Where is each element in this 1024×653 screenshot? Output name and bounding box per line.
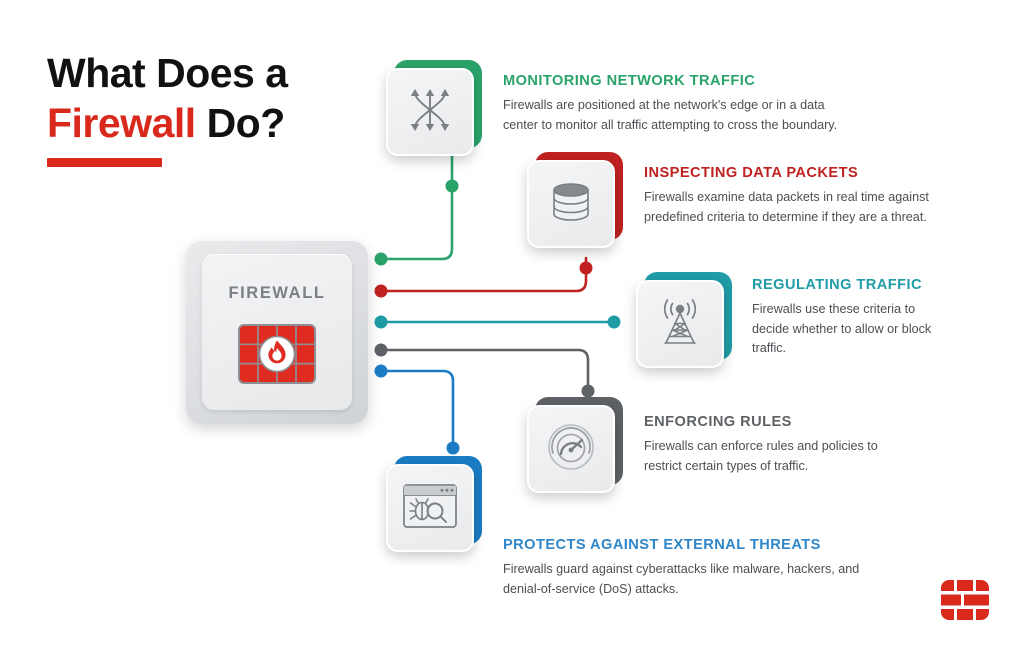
body-inspecting: Firewalls examine data packets in real t… xyxy=(644,188,944,227)
icon-card-enforcing[interactable] xyxy=(527,397,623,493)
text-block-inspecting: INSPECTING DATA PACKETS Firewalls examin… xyxy=(644,165,944,227)
connector-dot-monitoring-card xyxy=(446,180,459,193)
icon-card-monitoring[interactable] xyxy=(386,60,482,156)
icon-card-face-protects xyxy=(386,464,474,552)
connector-dot-regulating-card xyxy=(608,316,621,329)
gauge-meter-icon xyxy=(544,420,598,479)
text-block-monitoring: MONITORING NETWORK TRAFFIC Firewalls are… xyxy=(503,73,855,135)
firewall-brick-flame-icon xyxy=(238,324,316,389)
database-cylinder-icon xyxy=(546,177,596,232)
connector-line-protects xyxy=(381,371,453,441)
broadcast-tower-icon xyxy=(654,296,706,353)
icon-card-inspecting[interactable] xyxy=(527,152,623,248)
text-block-enforcing: ENFORCING RULES Firewalls can enforce ru… xyxy=(644,414,914,476)
heading-protects: PROTECTS AGAINST EXTERNAL THREATS xyxy=(503,537,863,553)
firewall-hub-label: FIREWALL xyxy=(202,284,352,303)
body-monitoring: Firewalls are positioned at the network'… xyxy=(503,96,855,135)
connector-dot-monitoring-hub xyxy=(375,253,388,266)
firewall-hub-panel[interactable]: FIREWALL xyxy=(186,241,368,424)
text-block-regulating: REGULATING TRAFFIC Firewalls use these c… xyxy=(752,277,952,359)
connector-dot-protects-card xyxy=(447,442,460,455)
body-protects: Firewalls guard against cyberattacks lik… xyxy=(503,560,863,599)
infographic-canvas: What Does a Firewall Do? FIREWALL xyxy=(0,0,1024,653)
connector-dot-inspecting-hub xyxy=(375,285,388,298)
body-enforcing: Firewalls can enforce rules and policies… xyxy=(644,437,914,476)
connector-dot-regulating-hub xyxy=(375,316,388,329)
connector-dot-enforcing-card xyxy=(582,385,595,398)
body-regulating: Firewalls use these criteria to decide w… xyxy=(752,300,952,359)
icon-card-face-enforcing xyxy=(527,405,615,493)
heading-inspecting: INSPECTING DATA PACKETS xyxy=(644,165,944,181)
connector-dot-enforcing-hub xyxy=(375,344,388,357)
icon-card-regulating[interactable] xyxy=(636,272,732,368)
crossing-arrows-icon xyxy=(404,84,456,141)
fortinet-brick-logo[interactable] xyxy=(941,580,989,625)
firewall-hub-inner: FIREWALL xyxy=(202,254,352,410)
browser-bug-magnifier-icon xyxy=(402,483,458,534)
text-block-protects: PROTECTS AGAINST EXTERNAL THREATS Firewa… xyxy=(503,537,863,599)
heading-regulating: REGULATING TRAFFIC xyxy=(752,277,952,293)
connector-dot-protects-hub xyxy=(375,365,388,378)
connector-line-monitoring xyxy=(381,146,452,259)
heading-enforcing: ENFORCING RULES xyxy=(644,414,914,430)
icon-card-protects[interactable] xyxy=(386,456,482,552)
connector-dot-inspecting-card xyxy=(580,262,593,275)
icon-card-face-monitoring xyxy=(386,68,474,156)
heading-monitoring: MONITORING NETWORK TRAFFIC xyxy=(503,73,855,89)
icon-card-face-regulating xyxy=(636,280,724,368)
icon-card-face-inspecting xyxy=(527,160,615,248)
connector-line-inspecting xyxy=(381,258,586,291)
connector-line-enforcing xyxy=(381,350,588,384)
